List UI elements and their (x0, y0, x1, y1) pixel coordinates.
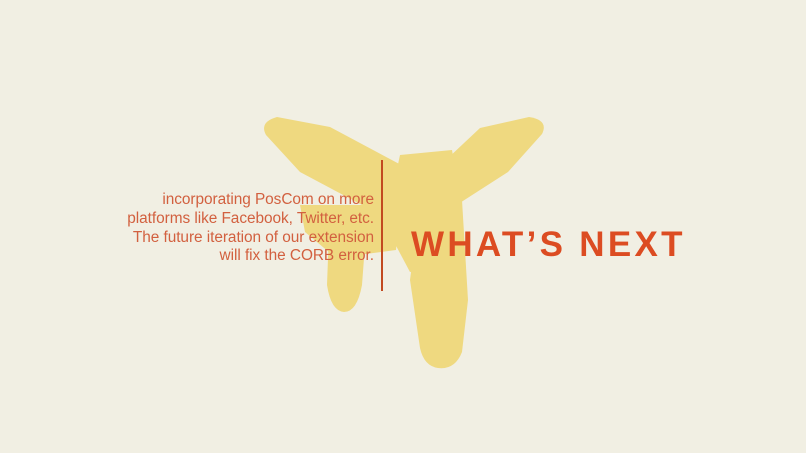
presentation-slide: incorporating PosCom on more platforms l… (0, 0, 806, 453)
vertical-divider (381, 160, 383, 291)
body-paragraph: incorporating PosCom on more platforms l… (120, 191, 374, 265)
page-title: WHAT’S NEXT (411, 225, 686, 265)
